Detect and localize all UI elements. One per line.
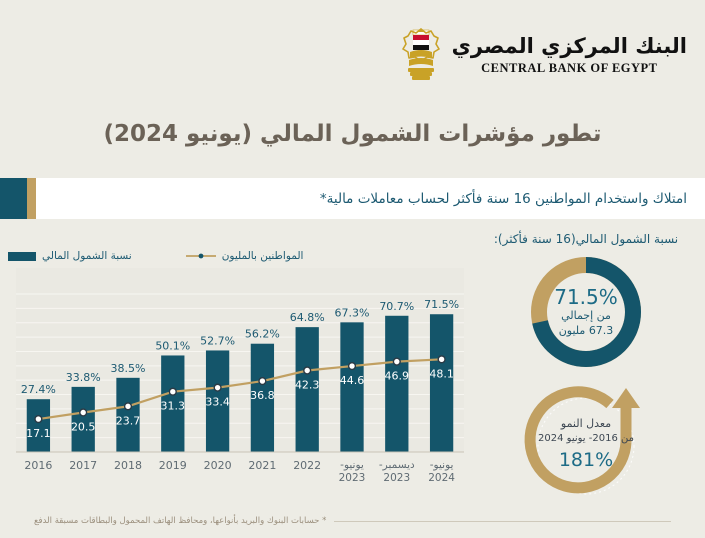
footnote-rule bbox=[334, 521, 671, 522]
growth-label: معدل النمو bbox=[561, 417, 611, 430]
growth-value: 181% bbox=[559, 449, 613, 471]
line-value-label: 36.8 bbox=[250, 389, 275, 402]
legend-bar-label: نسبة الشمول المالي bbox=[42, 250, 132, 262]
svg-text:ديسمبر-: ديسمبر- bbox=[379, 459, 415, 471]
chart-svg: 27.4%33.8%38.5%50.1%52.7%56.2%64.8%67.3%… bbox=[8, 268, 470, 496]
chart-legend: نسبة الشمول المالي المواطنين بالمليون bbox=[8, 246, 470, 266]
legend-line-label: المواطنين بالمليون bbox=[222, 250, 304, 262]
bar-value-label: 71.5% bbox=[424, 298, 459, 311]
svg-text:2018: 2018 bbox=[114, 459, 142, 472]
kpi-panel: نسبة الشمول المالي(16 سنة فأكثر): 71.5% … bbox=[467, 232, 705, 505]
footnote: * حسابات البنوك والبريد بأنواعها، ومحافظ… bbox=[34, 516, 671, 526]
egypt-eagle-emblem-icon bbox=[400, 28, 442, 82]
bar-value-label: 50.1% bbox=[155, 339, 190, 352]
subtitle-band: امتلاك واستخدام المواطنين 16 سنة فأكثر ل… bbox=[0, 178, 705, 219]
line-value-label: 31.3 bbox=[161, 400, 186, 413]
svg-text:2019: 2019 bbox=[159, 459, 187, 472]
bar-value-label: 64.8% bbox=[290, 311, 325, 324]
page-title: تطور مؤشرات الشمول المالي (يونيو 2024) bbox=[24, 121, 681, 147]
bar-value-label: 56.2% bbox=[245, 328, 280, 341]
band-accent-gold bbox=[27, 178, 36, 219]
bar-value-label: 33.8% bbox=[66, 371, 101, 384]
line-value-label: 20.5 bbox=[71, 421, 96, 434]
line-value-label: 17.1 bbox=[26, 427, 51, 440]
legend-line-swatch-icon bbox=[186, 251, 216, 261]
x-axis-tick-label: 2021 bbox=[248, 459, 276, 472]
x-axis-tick-label: ديسمبر-2023 bbox=[379, 459, 415, 484]
inclusion-chart: نسبة الشمول المالي المواطنين بالمليون 27… bbox=[8, 246, 470, 496]
x-axis-tick-label: 2019 bbox=[159, 459, 187, 472]
svg-text:2020: 2020 bbox=[204, 459, 232, 472]
svg-text:2024: 2024 bbox=[428, 472, 455, 484]
donut-center-labels: 71.5% من إجمالي 67.3 مليون bbox=[526, 252, 646, 372]
chart-plot-area: 27.4%33.8%38.5%50.1%52.7%56.2%64.8%67.3%… bbox=[8, 268, 470, 496]
line-value-label: 44.6 bbox=[340, 374, 365, 387]
logo-english-name: CENTRAL BANK OF EGYPT bbox=[452, 61, 687, 76]
band-accent-teal bbox=[0, 178, 27, 219]
svg-text:2023: 2023 bbox=[339, 472, 366, 484]
bar-value-label: 67.3% bbox=[335, 306, 370, 319]
infographic-page: البنك المركزي المصري CENTRAL BANK OF EGY… bbox=[0, 0, 705, 538]
cbe-logo: البنك المركزي المصري CENTRAL BANK OF EGY… bbox=[400, 28, 687, 82]
bar-value-label: 52.7% bbox=[200, 334, 235, 347]
line-value-label: 33.4 bbox=[205, 396, 230, 409]
line-value-label: 46.9 bbox=[385, 370, 410, 383]
donut-caption-line1: من إجمالي bbox=[561, 309, 611, 323]
line-value-label: 42.3 bbox=[295, 378, 320, 391]
svg-text:2021: 2021 bbox=[248, 459, 276, 472]
growth-center-labels: معدل النمو من 2016- يونيو 2024 181% bbox=[523, 380, 649, 502]
growth-period: من 2016- يونيو 2024 bbox=[538, 433, 634, 444]
logo-arabic-name: البنك المركزي المصري bbox=[452, 34, 687, 58]
x-axis-tick-label: يونيو-2024 bbox=[428, 459, 455, 484]
footnote-text: * حسابات البنوك والبريد بأنواعها، ومحافظ… bbox=[34, 516, 326, 526]
legend-item-bar: نسبة الشمول المالي bbox=[8, 250, 132, 262]
line-value-label: 48.1 bbox=[429, 367, 454, 380]
x-axis-tick-label: يونيو-2023 bbox=[339, 459, 366, 484]
subtitle-text: امتلاك واستخدام المواطنين 16 سنة فأكثر ل… bbox=[320, 191, 705, 207]
legend-bar-swatch-icon bbox=[8, 252, 36, 261]
bar-value-label: 70.7% bbox=[379, 300, 414, 313]
donut-caption-line2: 67.3 مليون bbox=[559, 324, 614, 338]
legend-item-line: المواطنين بالمليون bbox=[186, 250, 304, 262]
svg-text:2016: 2016 bbox=[24, 459, 52, 472]
x-axis-tick-label: 2018 bbox=[114, 459, 142, 472]
growth-rate-indicator: معدل النمو من 2016- يونيو 2024 181% bbox=[467, 380, 705, 505]
logo-text-block: البنك المركزي المصري CENTRAL BANK OF EGY… bbox=[452, 34, 687, 75]
x-axis-tick-label: 2016 bbox=[24, 459, 52, 472]
donut-percent-value: 71.5% bbox=[554, 286, 618, 308]
svg-text:يونيو-: يونيو- bbox=[340, 459, 364, 471]
svg-text:يونيو-: يونيو- bbox=[430, 459, 454, 471]
financial-inclusion-donut: 71.5% من إجمالي 67.3 مليون bbox=[467, 252, 705, 374]
x-axis-tick-label: 2022 bbox=[293, 459, 321, 472]
svg-text:2022: 2022 bbox=[293, 459, 321, 472]
svg-text:2023: 2023 bbox=[383, 472, 410, 484]
x-axis-tick-label: 2017 bbox=[69, 459, 97, 472]
kpi-panel-heading: نسبة الشمول المالي(16 سنة فأكثر): bbox=[467, 232, 705, 246]
svg-text:2017: 2017 bbox=[69, 459, 97, 472]
line-value-label: 23.7 bbox=[116, 414, 141, 427]
bar-value-label: 27.4% bbox=[21, 383, 56, 396]
x-axis-tick-label: 2020 bbox=[204, 459, 232, 472]
bar-value-label: 38.5% bbox=[111, 362, 146, 375]
